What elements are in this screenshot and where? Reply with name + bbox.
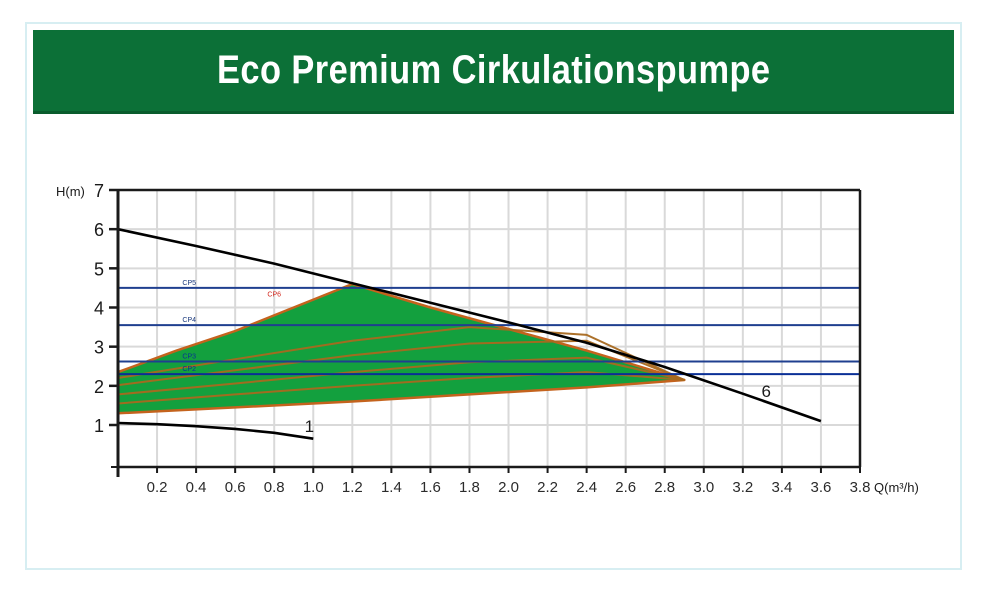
y-axis-tick-label: 2 [94,377,104,397]
chart-annotation: 1 [305,417,314,436]
chart-annotation: CP6 [267,292,281,299]
y-axis-title: H(m) [56,184,85,199]
y-axis-tick-label: 4 [94,299,104,319]
x-axis-tick-label: 2.8 [654,479,675,496]
reference-line-label: CP2 [182,366,196,373]
screenshot-root: Eco Premium Cirkulationspumpe CP5CP4CP3C… [0,0,1000,610]
x-axis-tick-label: 1.6 [420,479,441,496]
x-axis-tick-label: 3.4 [771,479,792,496]
x-axis-tick-label: 0.2 [147,479,168,496]
x-axis-tick-label: 3.8 [850,479,871,496]
x-axis-tick-label: 2.2 [537,479,558,496]
reference-line-label: CP5 [182,280,196,287]
y-axis-tick-label: 1 [94,416,104,436]
reference-line-label: CP4 [182,317,196,324]
x-axis-tick-label: 2.0 [498,479,519,496]
x-axis-tick-label: 3.6 [811,479,832,496]
x-axis-tick-label: 3.0 [693,479,714,496]
x-axis-tick-label: 1.4 [381,479,402,496]
y-axis-tick-label: 5 [94,259,104,279]
y-axis-tick-label: 7 [94,181,104,201]
y-axis-tick-label: 3 [94,338,104,358]
chart-annotation: 6 [762,382,771,401]
x-axis-tick-label: 2.6 [615,479,636,496]
x-axis-tick-label: 0.4 [186,479,207,496]
x-axis-tick-label: 1.8 [459,479,480,496]
chart-svg: CP5CP4CP3CP20.20.40.60.81.01.21.41.61.82… [0,0,1000,610]
x-axis-title: Q(m³/h) [874,480,919,495]
x-axis-tick-label: 0.8 [264,479,285,496]
y-axis-tick-label: 6 [94,220,104,240]
pump-performance-chart: CP5CP4CP3CP20.20.40.60.81.01.21.41.61.82… [0,0,1000,610]
x-axis-tick-label: 1.0 [303,479,324,496]
reference-line-label: CP3 [182,354,196,361]
x-axis-tick-label: 3.2 [732,479,753,496]
x-axis-tick-label: 0.6 [225,479,246,496]
x-axis-tick-label: 2.4 [576,479,597,496]
x-axis-tick-label: 1.2 [342,479,363,496]
